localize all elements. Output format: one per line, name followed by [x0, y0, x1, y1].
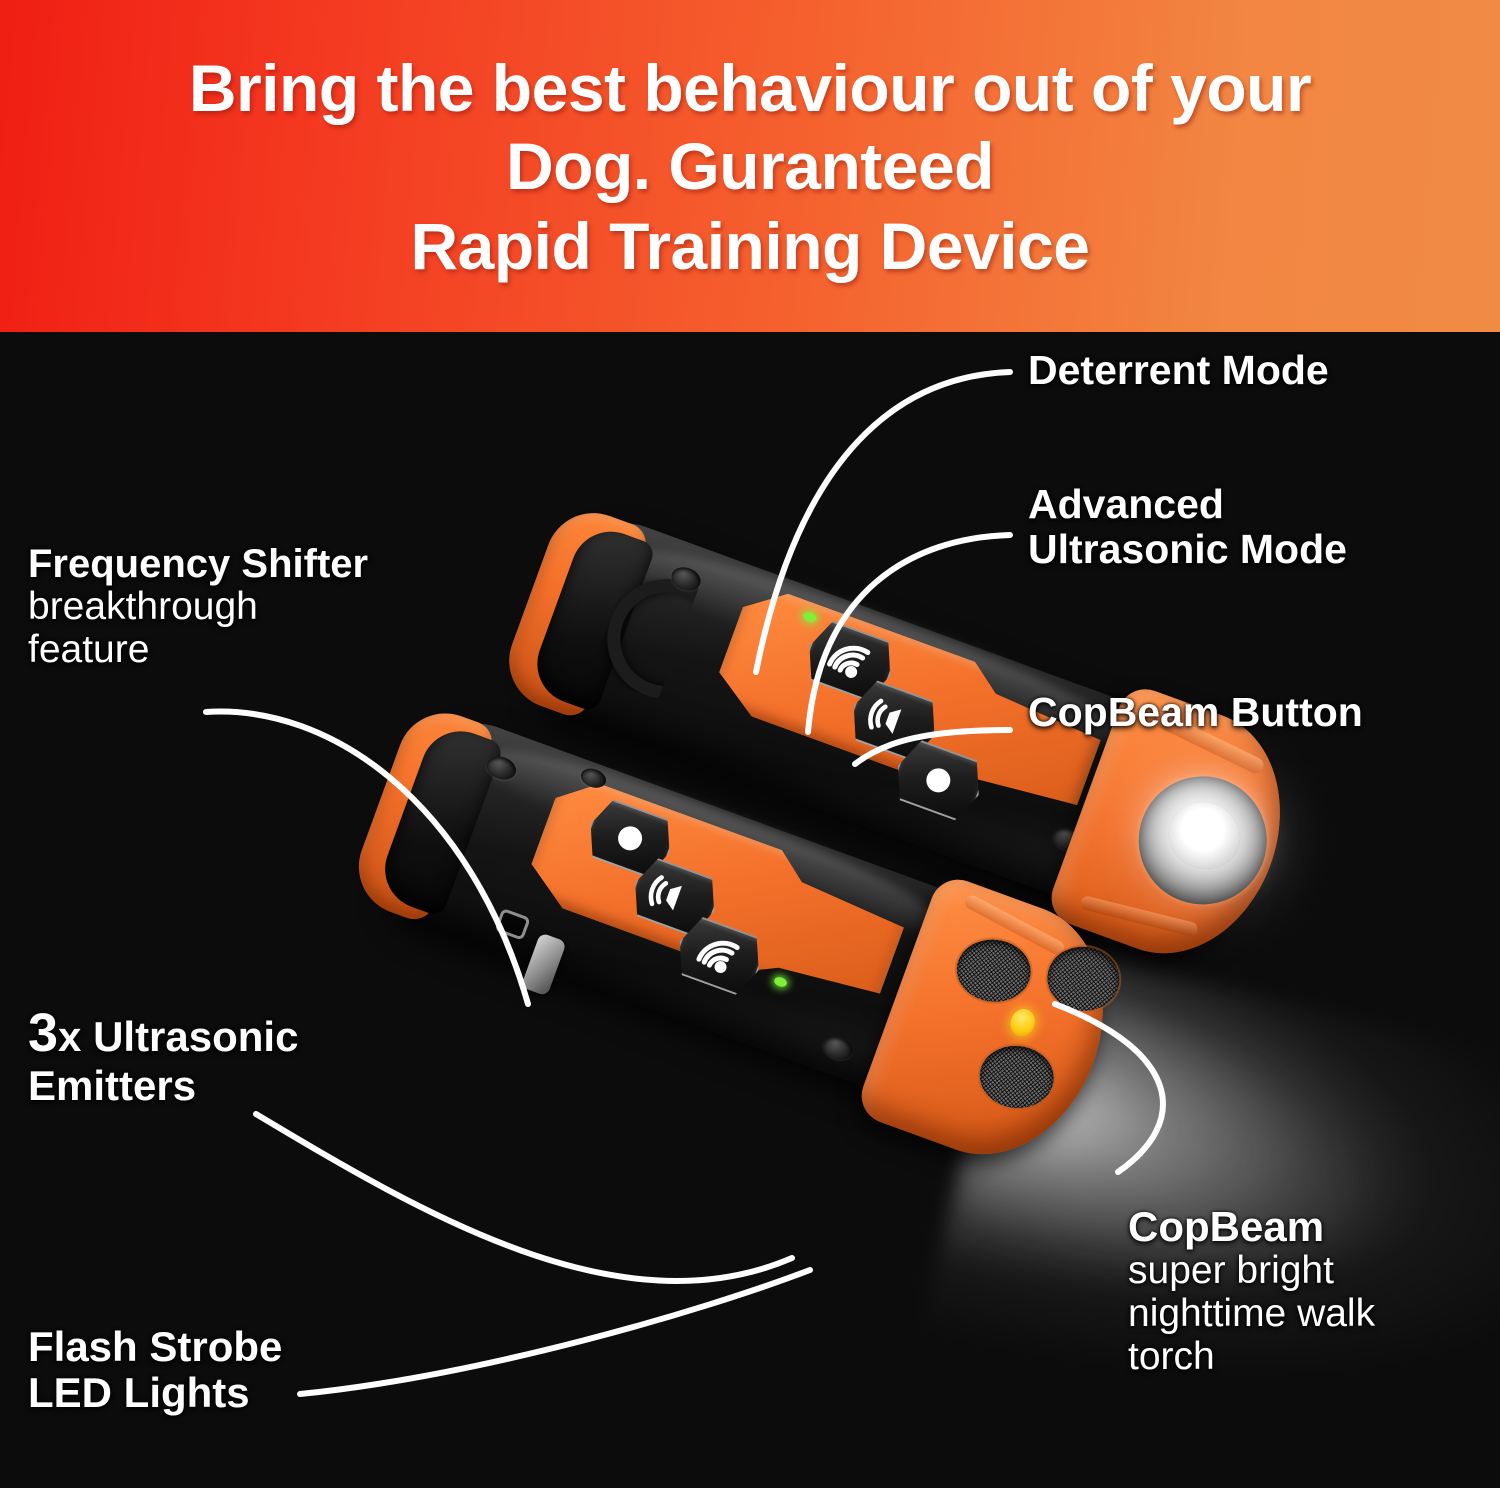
callout-frequency-shifter: Frequency Shifter breakthrough feature [28, 542, 368, 672]
callout-frequency-shifter-sub-1: breakthrough [28, 586, 368, 629]
light-dot-icon [917, 759, 961, 803]
banner-headline-line-3: Rapid Training Device [410, 212, 1089, 282]
callout-deterrent-mode-text: Deterrent Mode [1028, 347, 1329, 393]
sonic-wave-icon [688, 928, 751, 983]
callout-copbeam-sub-3: torch [1128, 1336, 1375, 1379]
callout-emitters-line-1: 3x Ultrasonic [28, 1013, 298, 1060]
callout-frequency-shifter-heading: Frequency Shifter [28, 542, 368, 586]
speaker-wave-icon [643, 870, 707, 924]
callout-strobe-line-1: Flash Strobe [28, 1324, 282, 1370]
header-banner: Bring the best behaviour out of your Dog… [0, 0, 1500, 332]
callout-ultrasonic-emitters: 3x Ultrasonic Emitters [28, 1004, 298, 1110]
callout-emitters-line-2: Emitters [28, 1063, 298, 1109]
leader-line-strobe [300, 1270, 810, 1394]
banner-headline-line-2: Dog. Guranteed [506, 132, 994, 202]
callout-copbeam-button: CopBeam Button [1028, 690, 1363, 735]
callout-copbeam-heading: CopBeam [1128, 1204, 1375, 1250]
callout-advanced-ultrasonic-mode: Advanced Ultrasonic Mode [1028, 482, 1347, 572]
product-photo-scene: Deterrent Mode Advanced Ultrasonic Mode … [0, 332, 1500, 1488]
callout-copbeam-sub-2: nighttime walk [1128, 1293, 1375, 1336]
banner-headline-line-1: Bring the best behaviour out of your [189, 54, 1311, 124]
callout-deterrent-mode: Deterrent Mode [1028, 348, 1329, 393]
callout-flash-strobe: Flash Strobe LED Lights [28, 1324, 282, 1416]
callout-strobe-line-2: LED Lights [28, 1370, 282, 1416]
callout-ultrasonic-line-2: Ultrasonic Mode [1028, 527, 1347, 572]
sonic-wave-icon [819, 633, 882, 688]
callout-emitters-unit: x Ultrasonic [58, 1013, 298, 1060]
callout-copbeam-button-text: CopBeam Button [1028, 689, 1363, 735]
callout-copbeam-sub-1: super bright [1128, 1250, 1375, 1293]
callout-copbeam-torch: CopBeam super bright nighttime walk torc… [1128, 1204, 1375, 1379]
infographic-canvas: Bring the best behaviour out of your Dog… [0, 0, 1500, 1488]
speaker-wave-icon [862, 694, 926, 748]
callout-frequency-shifter-sub-2: feature [28, 629, 368, 672]
callout-emitters-count: 3 [28, 1003, 58, 1063]
light-dot-icon [608, 817, 652, 861]
callout-ultrasonic-line-1: Advanced [1028, 482, 1347, 527]
